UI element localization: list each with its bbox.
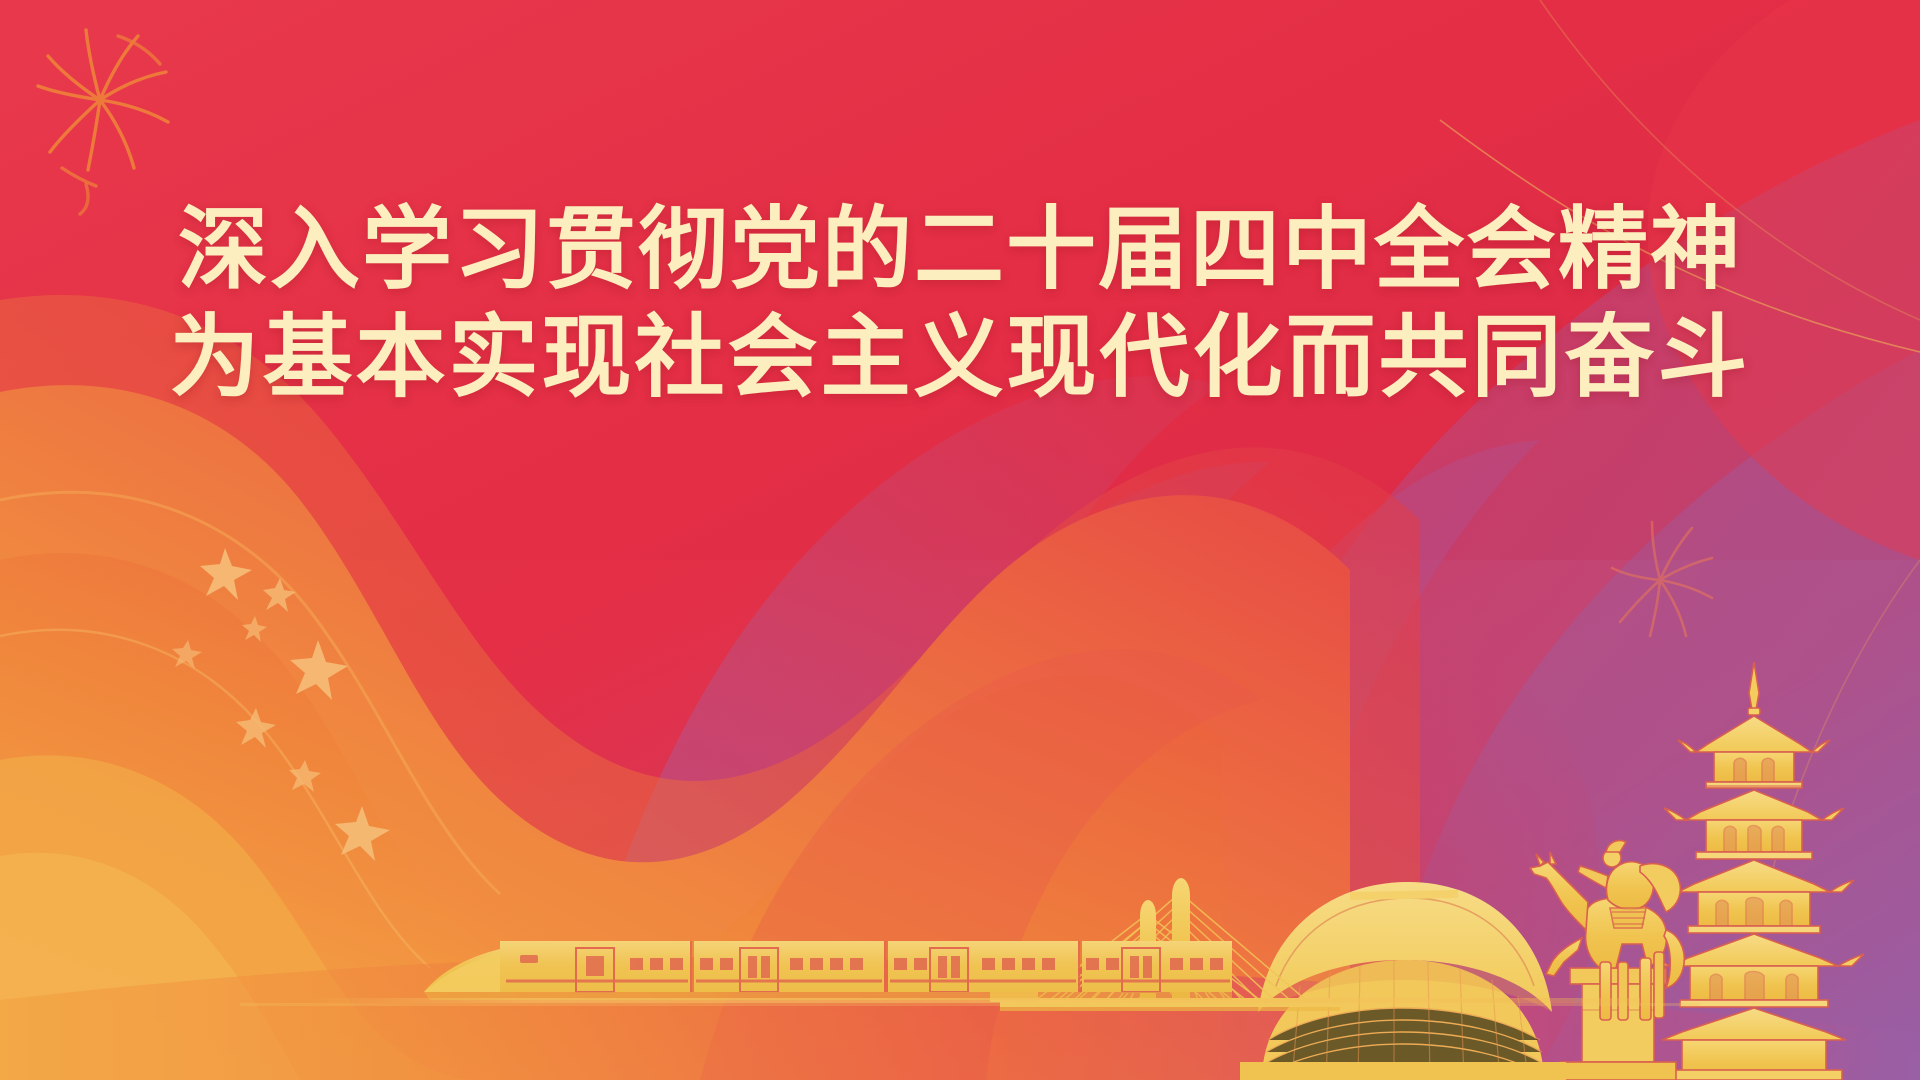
stadium-dome-icon bbox=[1240, 882, 1566, 1080]
equestrian-statue-icon bbox=[1530, 840, 1684, 1080]
high-speed-train-icon bbox=[424, 941, 1232, 1000]
poster-banner: 深入学习贯彻党的二十届四中全会精神 为基本实现社会主义现代化而共同奋斗 bbox=[0, 0, 1920, 1080]
ground-line bbox=[300, 998, 1640, 1003]
ground-line-soft bbox=[240, 1003, 1700, 1006]
pagoda-tower-icon bbox=[1644, 662, 1864, 1080]
skyline-illustration bbox=[0, 0, 1920, 1080]
